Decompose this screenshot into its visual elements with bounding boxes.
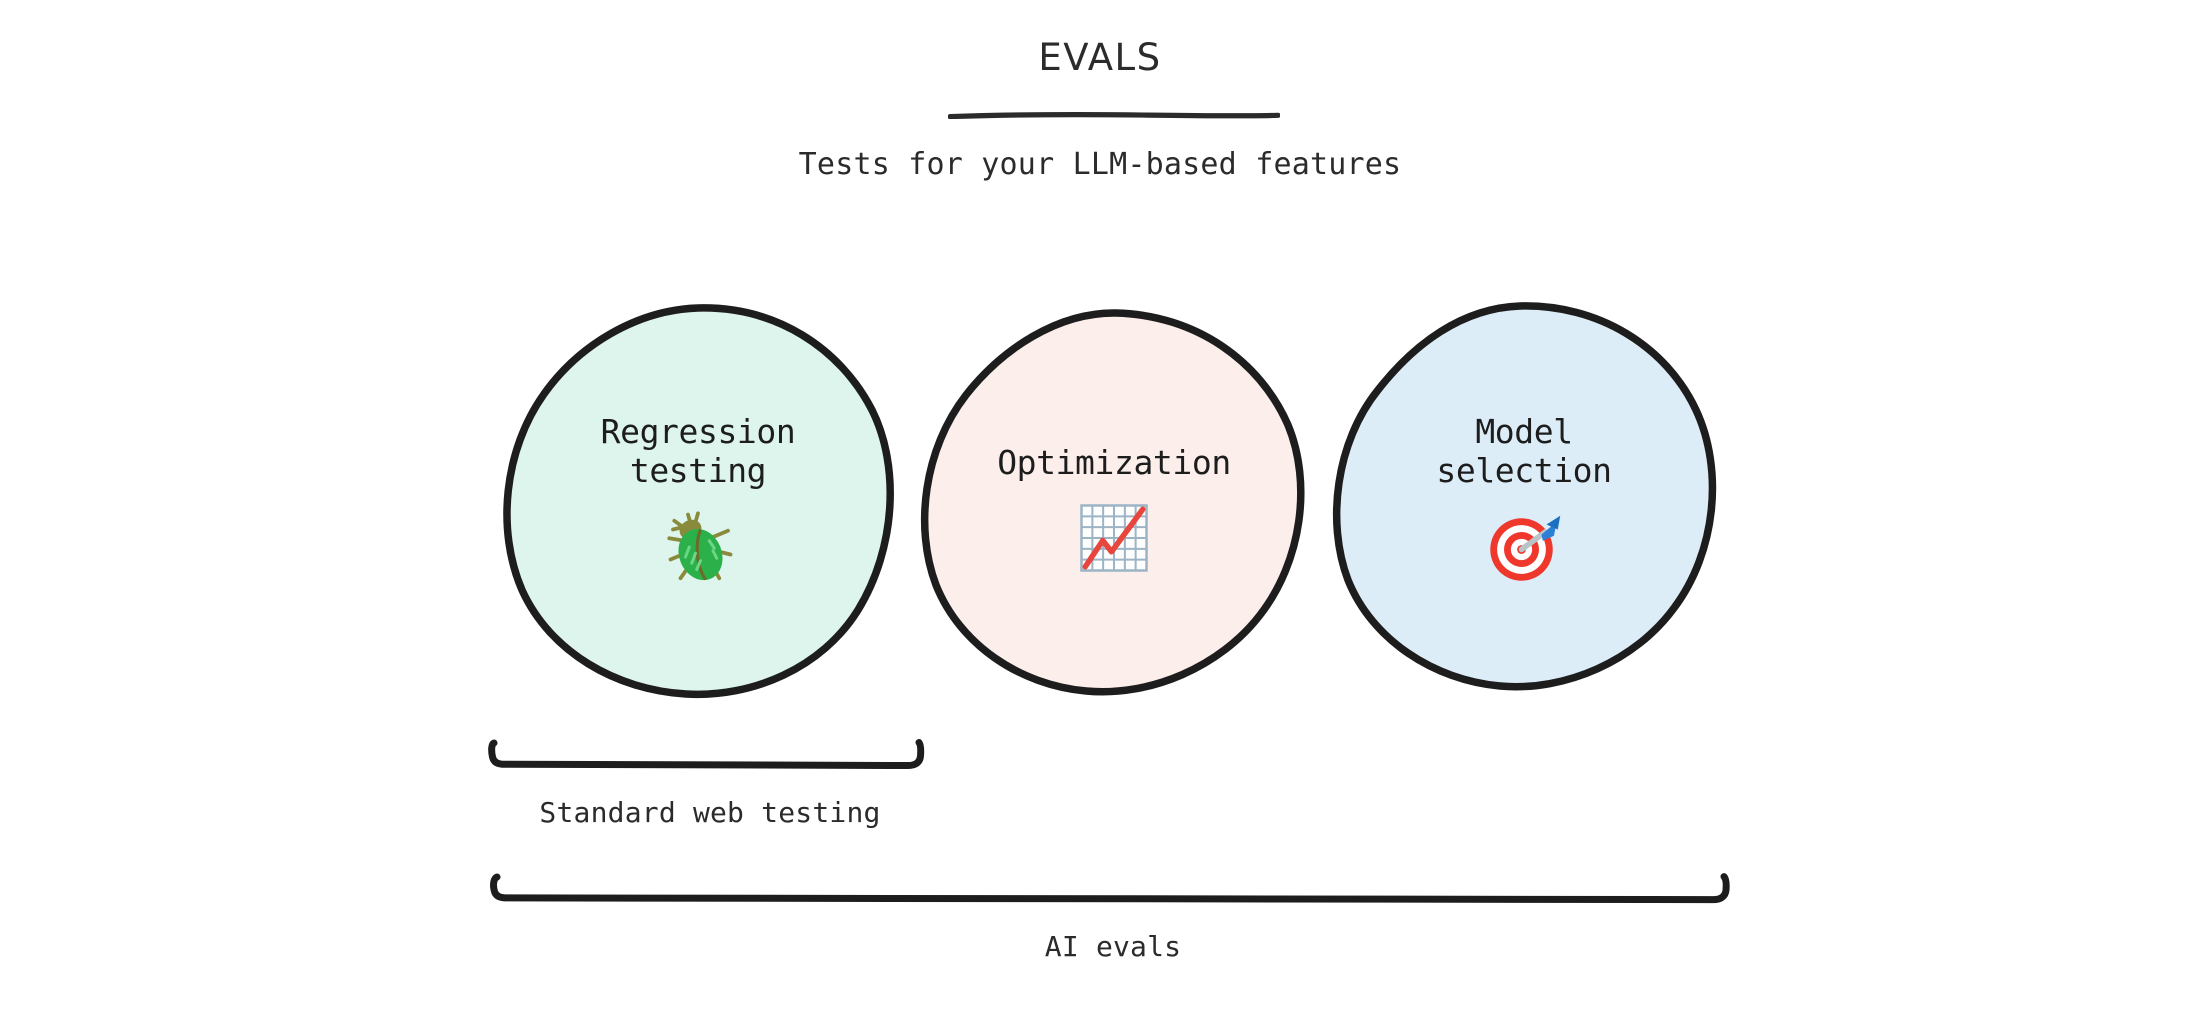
diagram-canvas: EVALS Tests for your LLM-based features … <box>0 0 2200 1010</box>
page-subtitle: Tests for your LLM-based features <box>0 147 2200 182</box>
bracket-ai-evals <box>480 862 1746 910</box>
circle-outline-regression-testing <box>500 300 896 700</box>
circle-optimization[interactable]: Optimization <box>916 307 1312 707</box>
page-title: EVALS <box>0 36 2200 79</box>
bracket-standard-web-testing <box>480 728 940 776</box>
circle-outline-optimization <box>916 307 1312 707</box>
circle-outline-model-selection <box>1326 300 1722 700</box>
circle-model-selection[interactable]: Model selection <box>1326 300 1722 700</box>
bracket-label-standard-web-testing: Standard web testing <box>480 796 940 829</box>
bracket-label-ai-evals: AI evals <box>480 930 1746 963</box>
circle-regression-testing[interactable]: Regression testing <box>500 300 896 700</box>
title-underline-rule <box>948 104 1280 111</box>
